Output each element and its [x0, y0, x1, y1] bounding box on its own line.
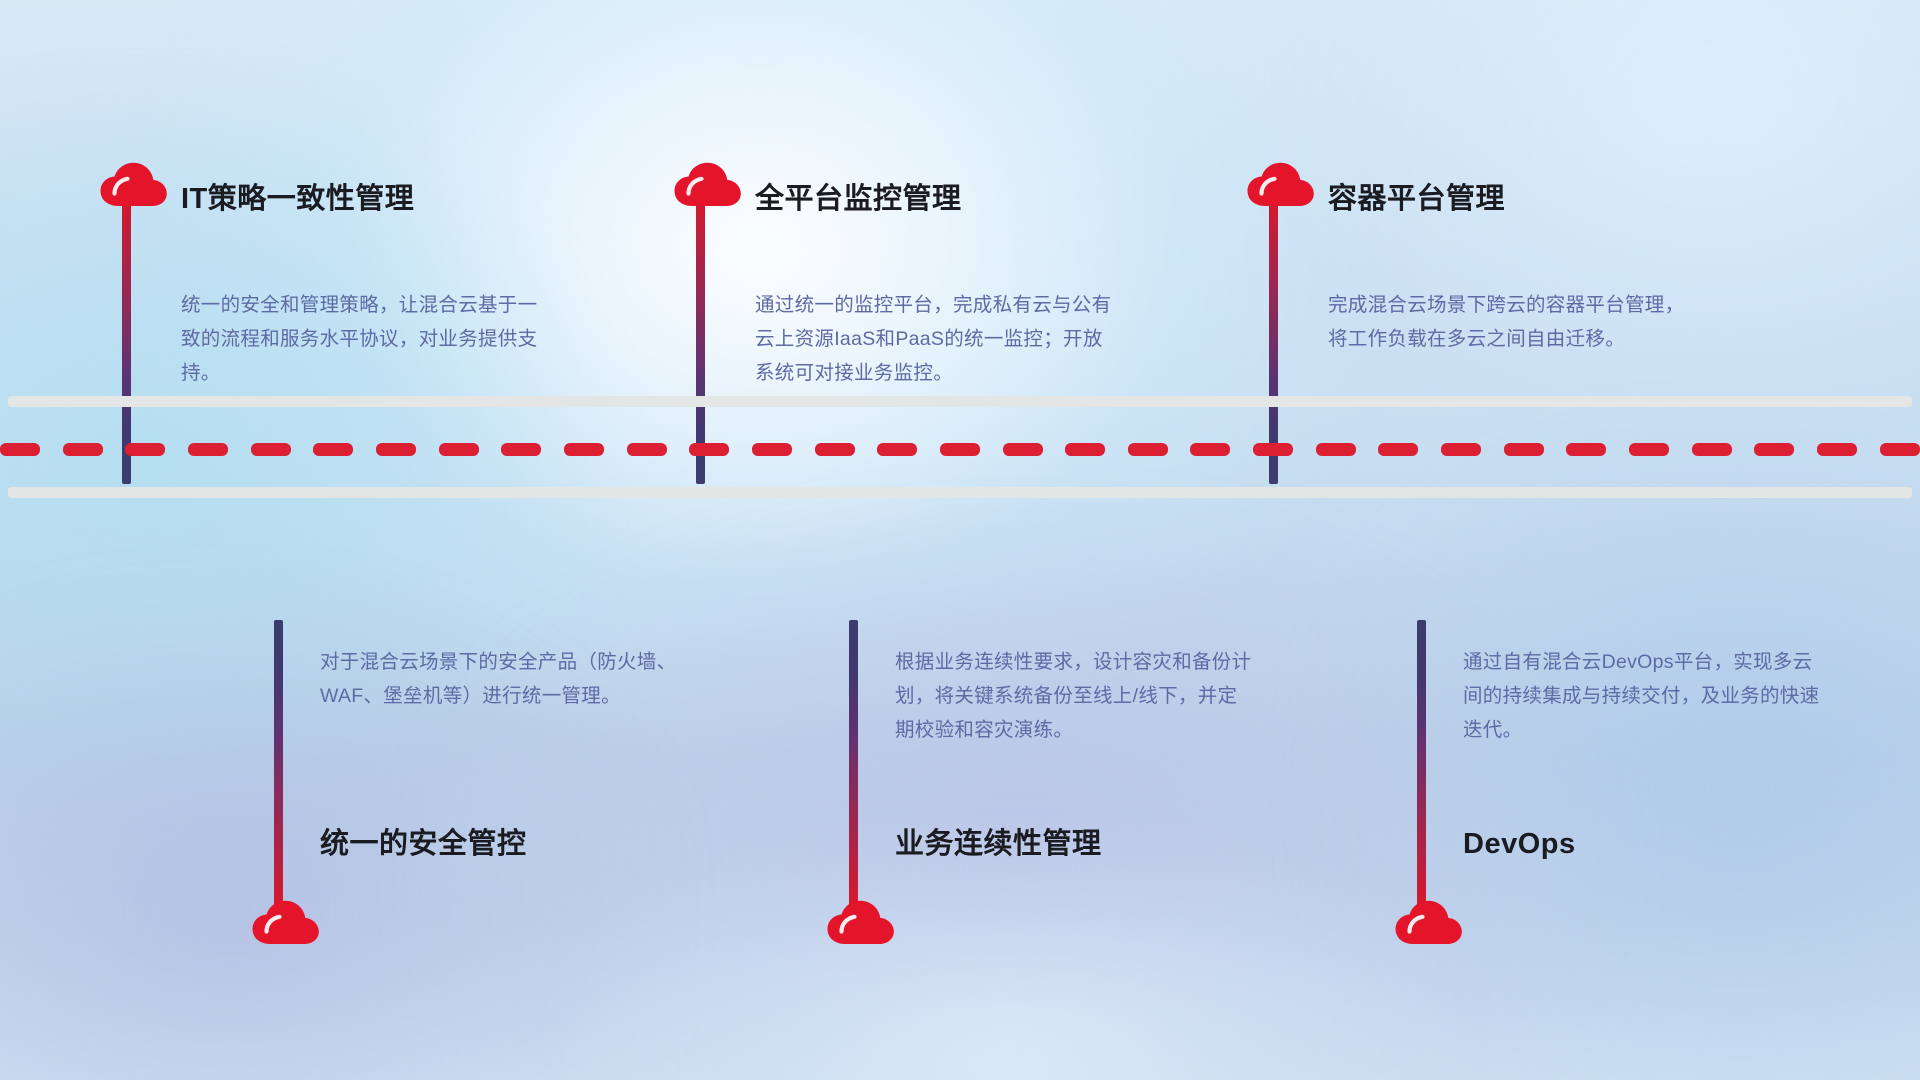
cloud-pin-icon [250, 898, 322, 950]
pin-devops [1393, 620, 1465, 950]
road-dash [1817, 443, 1857, 456]
infographic-canvas: IT策略一致性管理 统一的安全和管理策略，让混合云基于一致的流程和服务水平协议，… [0, 0, 1920, 1080]
road-dash [1692, 443, 1732, 456]
cloud-pin-icon [825, 898, 897, 950]
road-dash [1629, 443, 1669, 456]
road-dash [627, 443, 667, 456]
road-dash [313, 443, 353, 456]
card-title: 全平台监控管理 [755, 182, 962, 217]
stem-line [274, 620, 283, 908]
road-dash [752, 443, 792, 456]
card-unified-security-control: 对于混合云场景下的安全产品（防火墙、WAF、堡垒机等）进行统一管理。 统一的安全… [250, 620, 720, 950]
road-band-bottom [8, 487, 1912, 498]
road-dash [1253, 443, 1293, 456]
stem-line [1417, 620, 1426, 908]
card-body: 对于混合云场景下的安全产品（防火墙、WAF、堡垒机等）进行统一管理。 [320, 645, 680, 713]
road-dash [501, 443, 541, 456]
card-devops: 通过自有混合云DevOps平台，实现多云间的持续集成与持续交付，及业务的快速迭代… [1393, 620, 1863, 950]
card-body: 根据业务连续性要求，设计容灾和备份计划，将关键系统备份至线上/线下，并定期校验和… [895, 645, 1255, 747]
card-body: 完成混合云场景下跨云的容器平台管理，将工作负载在多云之间自由迁移。 [1328, 288, 1688, 356]
road-dash [1378, 443, 1418, 456]
road-band-top [8, 396, 1912, 407]
road-dash [0, 443, 40, 456]
road-dash [1754, 443, 1794, 456]
cloud-pin-icon [1245, 160, 1317, 212]
road-dash [1190, 443, 1230, 456]
card-title: DevOps [1463, 827, 1576, 862]
road-dash [689, 443, 729, 456]
road-dash [439, 443, 479, 456]
road-dash [1504, 443, 1544, 456]
road-dash [63, 443, 103, 456]
card-body: 通过统一的监控平台，完成私有云与公有云上资源IaaS和PaaS的统一监控；开放系… [755, 288, 1115, 390]
card-business-continuity-management: 根据业务连续性要求，设计容灾和备份计划，将关键系统备份至线上/线下，并定期校验和… [825, 620, 1295, 950]
stem-line [849, 620, 858, 908]
road-dash [815, 443, 855, 456]
cloud-pin-icon [1393, 898, 1465, 950]
road-dash [1566, 443, 1606, 456]
road-dash [376, 443, 416, 456]
road-dash [125, 443, 165, 456]
road-dash [1128, 443, 1168, 456]
road-dash [251, 443, 291, 456]
card-body: 通过自有混合云DevOps平台，实现多云间的持续集成与持续交付，及业务的快速迭代… [1463, 645, 1823, 747]
road-dash [877, 443, 917, 456]
road-dash [1065, 443, 1105, 456]
road-dash [1880, 443, 1920, 456]
road-dash [1003, 443, 1043, 456]
road-center-dashes [0, 442, 1920, 456]
road-dash [564, 443, 604, 456]
road-dash [188, 443, 228, 456]
cloud-pin-icon [98, 160, 170, 212]
road-dash [1441, 443, 1481, 456]
cloud-pin-icon [672, 160, 744, 212]
pin-business-continuity-management [825, 620, 897, 950]
pin-unified-security-control [250, 620, 322, 950]
road-divider [0, 396, 1920, 506]
road-dash [1316, 443, 1356, 456]
road-dash [940, 443, 980, 456]
card-title: 统一的安全管控 [320, 827, 527, 862]
card-title: 业务连续性管理 [895, 827, 1102, 862]
card-title: 容器平台管理 [1328, 182, 1505, 217]
card-body: 统一的安全和管理策略，让混合云基于一致的流程和服务水平协议，对业务提供支持。 [181, 288, 541, 390]
card-title: IT策略一致性管理 [181, 182, 414, 217]
